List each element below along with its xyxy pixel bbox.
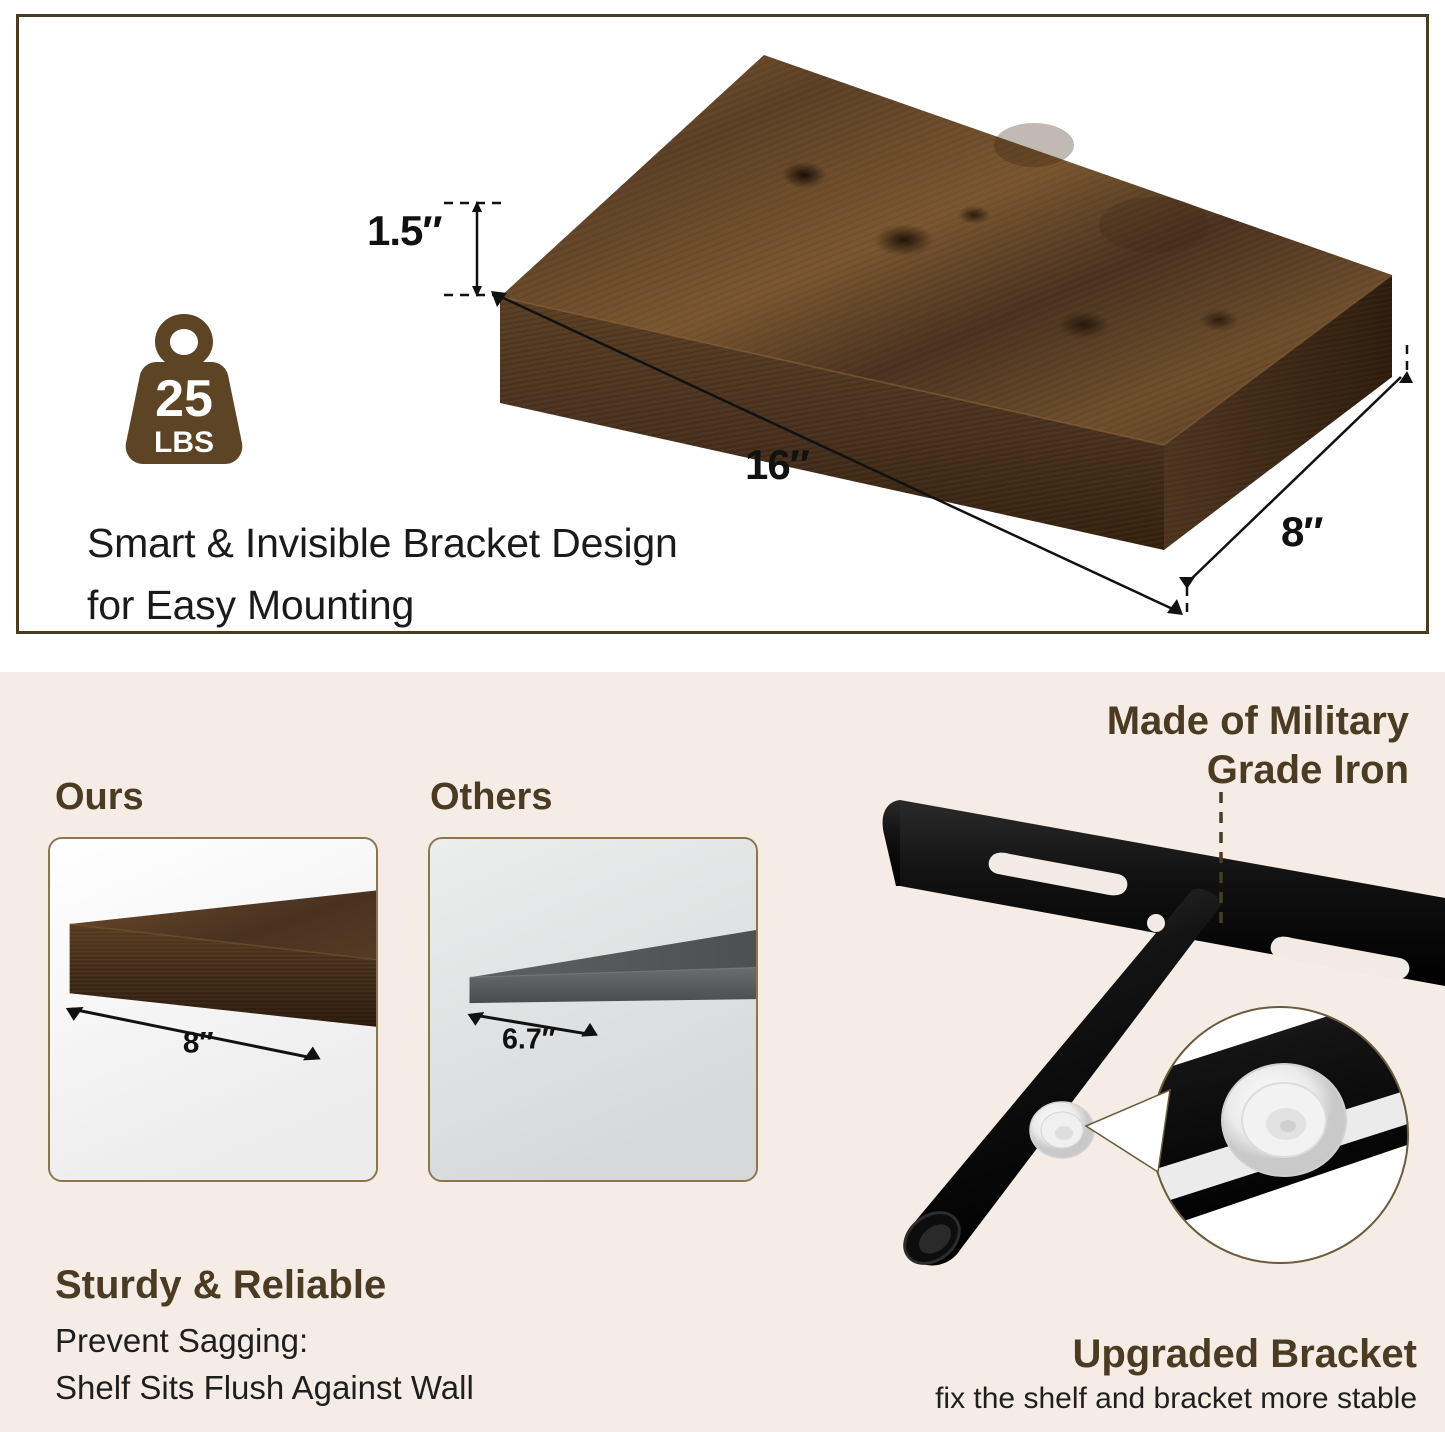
thickness-label: 1.5″ (367, 207, 442, 255)
comparison-label-ours: Ours (55, 776, 144, 819)
screw-cap-main (1030, 1102, 1094, 1158)
svg-text:6.7″: 6.7″ (502, 1024, 556, 1056)
military-line-1: Made of Military (789, 697, 1409, 746)
product-infographic: 25 LBS (0, 0, 1445, 1432)
comparison-label-others: Others (430, 776, 552, 819)
svg-text:8″: 8″ (183, 1026, 214, 1059)
page-title: Smart & Invisible Bracket Design for Eas… (87, 512, 907, 637)
military-line-2: Grade Iron (789, 746, 1409, 795)
depth-label: 8″ (1281, 508, 1322, 556)
comparison-image-ours: 8″ (48, 837, 378, 1182)
upgraded-bracket-heading: Upgraded Bracket (1072, 1332, 1417, 1377)
depth-dimension-line (1169, 337, 1429, 617)
military-grade-pointer-line (1216, 792, 1226, 932)
svg-text:25: 25 (155, 370, 213, 428)
sturdy-heading: Sturdy & Reliable (55, 1263, 386, 1308)
sturdy-line-1: Prevent Sagging: (55, 1318, 474, 1365)
headline-line-1: Smart & Invisible Bracket Design (87, 512, 907, 574)
comparison-image-others: 6.7″ (428, 837, 758, 1182)
upgraded-bracket-subtitle: fix the shelf and bracket more stable (935, 1382, 1417, 1416)
bracket-illustration (840, 790, 1445, 1320)
headline-line-2: for Easy Mounting (87, 574, 907, 636)
military-grade-heading: Made of Military Grade Iron (789, 697, 1409, 795)
sturdy-description: Prevent Sagging: Shelf Sits Flush Agains… (55, 1318, 474, 1412)
svg-text:LBS: LBS (154, 426, 214, 459)
sturdy-line-2: Shelf Sits Flush Against Wall (55, 1365, 474, 1412)
top-panel: 25 LBS (16, 14, 1429, 634)
length-label: 16″ (745, 441, 809, 489)
weight-capacity-icon: 25 LBS (124, 312, 244, 472)
